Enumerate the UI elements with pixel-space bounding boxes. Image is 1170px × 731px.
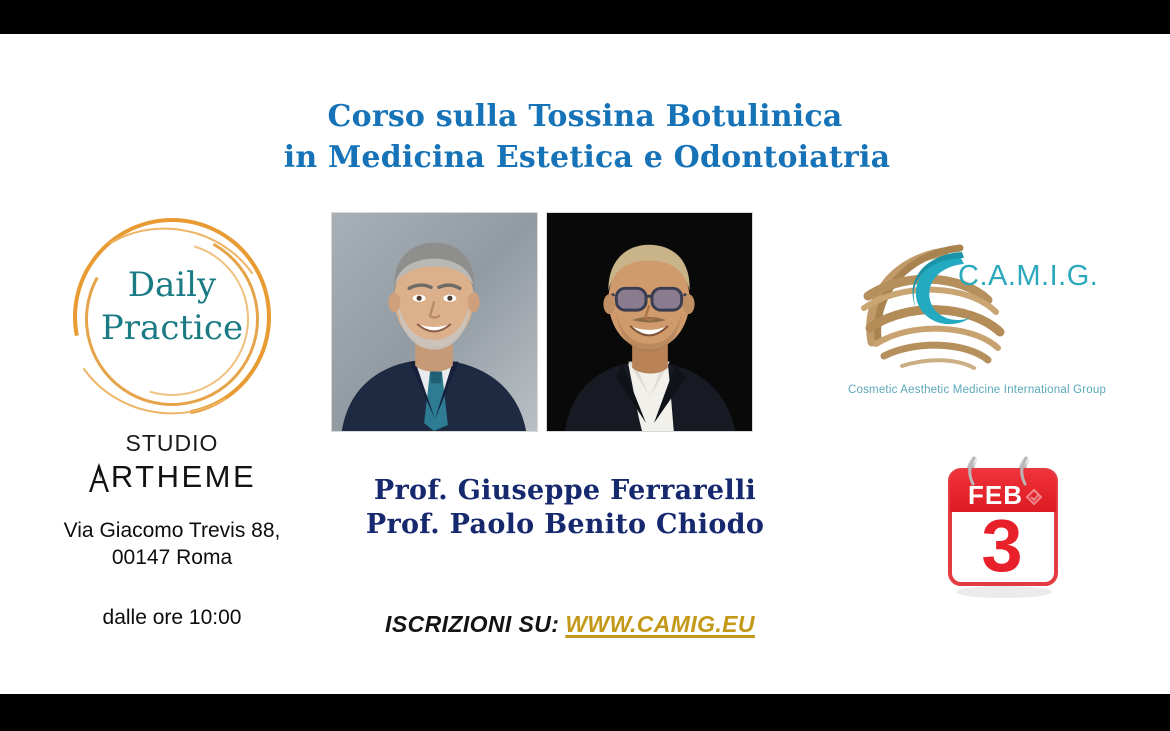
artheme-a-glyph-icon — [88, 462, 110, 493]
camig-wordmark: C.A.M.I.G. — [958, 260, 1098, 293]
registration-label: ISCRIZIONI SU: — [385, 611, 559, 637]
studio-name-rest: RTHEME — [111, 459, 256, 495]
camig-logo: C.A.M.I.G. Cosmetic Aesthetic Medicine I… — [848, 238, 1098, 396]
page-title: Corso sulla Tossina Botulinica in Medici… — [0, 96, 1170, 178]
event-poster: Corso sulla Tossina Botulinica in Medici… — [0, 0, 1170, 731]
studio-name: RTHEME — [22, 459, 322, 495]
letterbox-top — [0, 0, 1170, 34]
speaker-names: Prof. Giuseppe Ferrarelli Prof. Paolo Be… — [300, 474, 830, 542]
venue-address: Via Giacomo Trevis 88, 00147 Roma — [22, 517, 322, 571]
camig-tagline: Cosmetic Aesthetic Medicine Internationa… — [848, 384, 1098, 396]
camig-globe-icon — [848, 238, 1098, 378]
letterbox-bottom — [0, 694, 1170, 731]
speaker-name-2: Prof. Paolo Benito Chiodo — [300, 508, 830, 542]
address-line-2: 00147 Roma — [22, 544, 322, 571]
daily-practice-wordmark: Daily Practice — [65, 264, 279, 350]
daily-practice-logo: Daily Practice — [65, 212, 279, 420]
address-line-1: Via Giacomo Trevis 88, — [22, 517, 322, 544]
logo-word-daily: Daily — [65, 264, 279, 307]
speaker-photo-ferrarelli — [331, 212, 538, 432]
calendar-date-icon: FEB 3 — [938, 452, 1066, 602]
title-line-2: in Medicina Estetica e Odontoiatria — [0, 137, 1170, 178]
speaker-photo-chiodo — [546, 212, 753, 432]
title-line-1: Corso sulla Tossina Botulinica — [0, 96, 1170, 137]
speaker-name-1: Prof. Giuseppe Ferrarelli — [300, 474, 830, 508]
registration-url-link[interactable]: WWW.CAMIG.EU — [565, 611, 755, 637]
logo-word-practice: Practice — [65, 307, 279, 350]
studio-label: STUDIO — [22, 430, 322, 457]
venue-column: Daily Practice STUDIO RTHEME Via Giacomo… — [22, 212, 322, 630]
registration-line: ISCRIZIONI SU:WWW.CAMIG.EU — [240, 611, 900, 638]
calendar-day-text: 3 — [981, 504, 1022, 587]
